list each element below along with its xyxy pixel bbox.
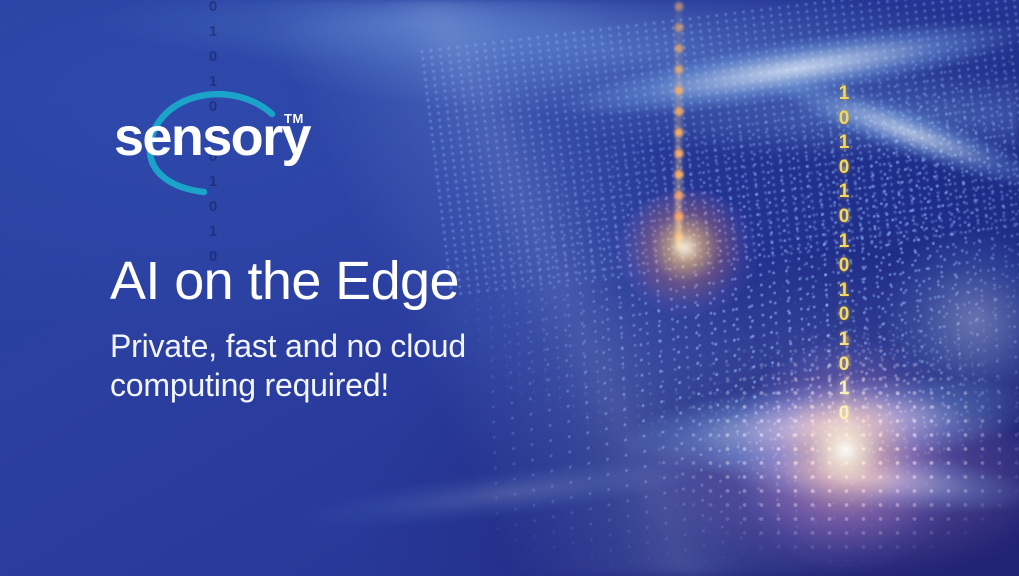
subtitle-line-2: computing required!	[110, 366, 466, 405]
subtitle-line-1: Private, fast and no cloud	[110, 327, 466, 366]
marketing-banner: 0 1 0 1 0 1 0 1 0 1 0 1 0 1 0 1 0 1 0 1 …	[0, 0, 1019, 576]
sensory-logo[interactable]: sensory TM	[112, 84, 322, 194]
page-title: AI on the Edge	[110, 250, 459, 312]
banner-content: sensory TM AI on the Edge Private, fast …	[0, 0, 1019, 576]
page-subtitle: Private, fast and no cloud computing req…	[110, 327, 466, 405]
trademark-symbol: TM	[284, 111, 304, 126]
sensory-wordmark: sensory	[114, 110, 310, 164]
